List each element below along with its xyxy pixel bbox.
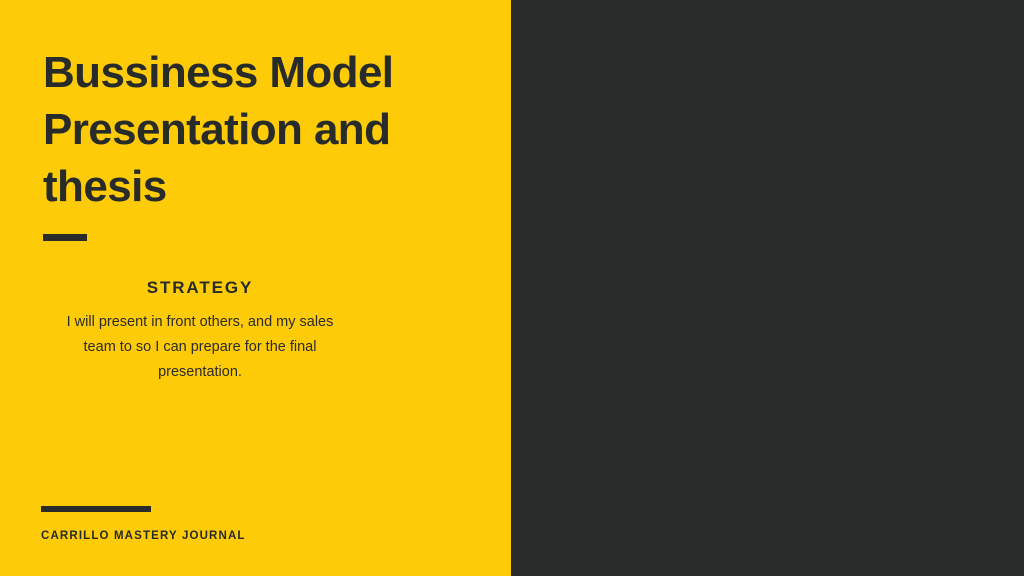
footer-rule [41,506,151,512]
page-title: Bussiness Model Presentation and thesis [43,44,483,215]
strategy-heading: STRATEGY [60,278,340,298]
right-panel: GOALS COMPLETE MY BUSINESS MODEL PRESENT… [511,0,1024,576]
title-block: Bussiness Model Presentation and thesis [43,44,483,215]
left-panel: Bussiness Model Presentation and thesis … [0,0,511,576]
footer-label: CARRILLO MASTERY JOURNAL [41,530,246,542]
title-underline-rule [43,234,87,241]
strategy-body-text: I will present in front others, and my s… [60,310,340,385]
strategy-block: STRATEGY I will present in front others,… [60,278,340,385]
presentation-slide: Bussiness Model Presentation and thesis … [0,0,1024,576]
